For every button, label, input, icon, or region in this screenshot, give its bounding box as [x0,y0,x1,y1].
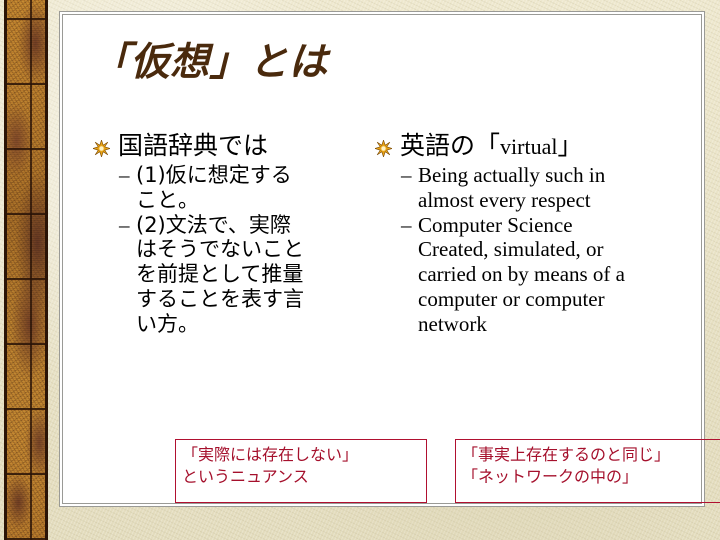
gold-starburst-icon [93,140,110,157]
slide-canvas: 「仮想」とは 国語辞典では – (1)仮に想定すること。 – (2)文法で、実際… [0,0,720,540]
right-heading-jp-close: 」 [557,131,582,160]
left-callout-box: 「実際には存在しない」 というニュアンス [175,439,427,503]
right-column-heading-row: 英語の「virtual」 [375,131,685,161]
right-callout-line-1: 「事実上存在するのと同じ」 [462,444,720,466]
page-title: 「仮想」とは [91,43,671,84]
left-callout-line-1: 「実際には存在しない」 [182,444,421,466]
right-column-item-1-text: Being actually such in almost every resp… [418,163,636,213]
left-column-item-1-text: (1)仮に想定すること。 [136,163,311,213]
right-column-item-2: – Computer Science Created, simulated, o… [401,213,685,337]
slide-content-panel: 「仮想」とは 国語辞典では – (1)仮に想定すること。 – (2)文法で、実際… [62,14,702,504]
right-column-heading: 英語の「virtual」 [400,131,582,161]
dash-bullet-icon: – [119,213,136,238]
gold-starburst-icon [375,140,392,157]
dash-bullet-icon: – [401,213,418,238]
left-column: 国語辞典では – (1)仮に想定すること。 – (2)文法で、実際はそうでないこ… [93,131,383,336]
left-callout-line-2: というニュアンス [182,466,421,488]
right-column-item-1: – Being actually such in almost every re… [401,163,685,213]
dash-bullet-icon: – [401,163,418,188]
dash-bullet-icon: – [119,163,136,188]
decorative-side-band [4,0,48,540]
right-column-item-2-text: Computer Science Created, simulated, or … [418,213,636,337]
left-column-heading: 国語辞典では [118,131,268,161]
left-column-item-2-text: (2)文法で、実際はそうでないことを前提として推量することを表す言い方。 [136,213,311,337]
right-heading-latin-term: virtual [500,134,557,159]
right-heading-jp-open: 英語の「 [400,131,500,160]
left-column-item-1: – (1)仮に想定すること。 [119,163,383,213]
left-column-heading-row: 国語辞典では [93,131,383,161]
right-callout-box: 「事実上存在するのと同じ」 「ネットワークの中の」 [455,439,720,503]
right-column: 英語の「virtual」 – Being actually such in al… [375,131,685,336]
right-callout-line-2: 「ネットワークの中の」 [462,466,720,488]
side-band-texture-overlay [7,0,45,540]
left-column-item-2: – (2)文法で、実際はそうでないことを前提として推量することを表す言い方。 [119,213,383,337]
